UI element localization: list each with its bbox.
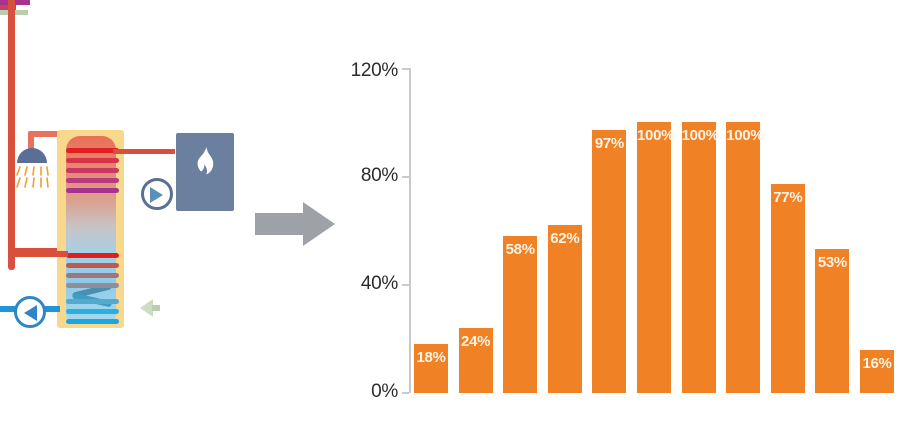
bar[interactable]: 77% <box>771 184 805 393</box>
y-axis-tick-120 <box>402 68 409 70</box>
lower-coil-turn-6 <box>66 309 119 314</box>
y-axis-tick-40 <box>402 284 409 286</box>
bar-value-label: 16% <box>860 355 894 372</box>
y-axis-label-0: 0% <box>340 381 398 403</box>
bar[interactable]: 62% <box>548 225 582 393</box>
bar[interactable]: 16% <box>860 350 894 393</box>
pump-arrow-icon <box>150 187 163 203</box>
boiler-circulation-pump-icon <box>141 178 173 210</box>
page-root: 120% 80% 40% 0% 18%янв24%фев58%мар62%апр… <box>0 0 900 430</box>
lower-coil-turn-2 <box>66 263 119 268</box>
bar[interactable]: 100% <box>726 122 760 393</box>
y-axis-tick-80 <box>402 176 409 178</box>
upper-coil-turn-5 <box>66 188 119 193</box>
bar[interactable]: 18% <box>414 344 448 393</box>
bar[interactable]: 100% <box>682 122 716 393</box>
lower-coil-turn-3 <box>66 273 119 278</box>
y-axis-tick-0 <box>402 392 409 394</box>
boiler-unit <box>176 133 234 211</box>
bar[interactable]: 97% <box>592 130 626 393</box>
upper-coil-turn-3 <box>66 168 119 173</box>
upper-coil-turn-1 <box>66 148 119 153</box>
bar-value-label: 62% <box>548 230 582 247</box>
bar-value-label: 58% <box>503 241 537 258</box>
upper-coil-turn-2 <box>66 158 119 163</box>
bar[interactable]: 100% <box>637 122 671 393</box>
bar-series: 18%янв24%фев58%мар62%апр97%май100%июнь10… <box>411 68 900 393</box>
lower-coil-turn-7 <box>66 319 119 324</box>
upper-coil-turn-4 <box>66 178 119 183</box>
y-axis-label-120: 120% <box>340 60 398 82</box>
bar-value-label: 100% <box>682 127 716 144</box>
tank-to-boiler-flow-pipe <box>113 149 175 154</box>
monthly-solar-coverage-bar-chart: 120% 80% 40% 0% 18%янв24%фев58%мар62%апр… <box>340 0 900 430</box>
hot-water-feed-to-lower-coil <box>8 251 68 257</box>
flame-icon <box>194 147 216 181</box>
cold-circulation-pump-icon <box>14 296 46 328</box>
bar-value-label: 97% <box>592 135 626 152</box>
bar-value-label: 100% <box>726 127 760 144</box>
lower-coil-turn-5 <box>66 299 119 304</box>
y-axis-label-40: 40% <box>340 273 398 295</box>
bar-value-label: 100% <box>637 127 671 144</box>
water-droplets-icon <box>15 165 49 191</box>
bar-value-label: 24% <box>459 333 493 350</box>
bar-value-label: 77% <box>771 189 805 206</box>
y-axis-label-80: 80% <box>340 165 398 187</box>
bar[interactable]: 24% <box>459 328 493 393</box>
transition-arrow-icon <box>255 200 335 248</box>
shower-head-icon <box>17 148 47 163</box>
hot-water-return-pipe-vertical <box>8 0 15 270</box>
lower-coil-turn-4 <box>66 283 119 288</box>
lower-coil-turn-1 <box>66 253 119 258</box>
bar[interactable]: 53% <box>815 249 849 393</box>
drain-valve-stem <box>152 305 160 311</box>
bar-value-label: 18% <box>414 349 448 366</box>
heating-system-diagram <box>0 0 340 430</box>
pump-arrow-icon <box>24 305 37 321</box>
bar[interactable]: 58% <box>503 236 537 393</box>
bar-value-label: 53% <box>815 254 849 271</box>
